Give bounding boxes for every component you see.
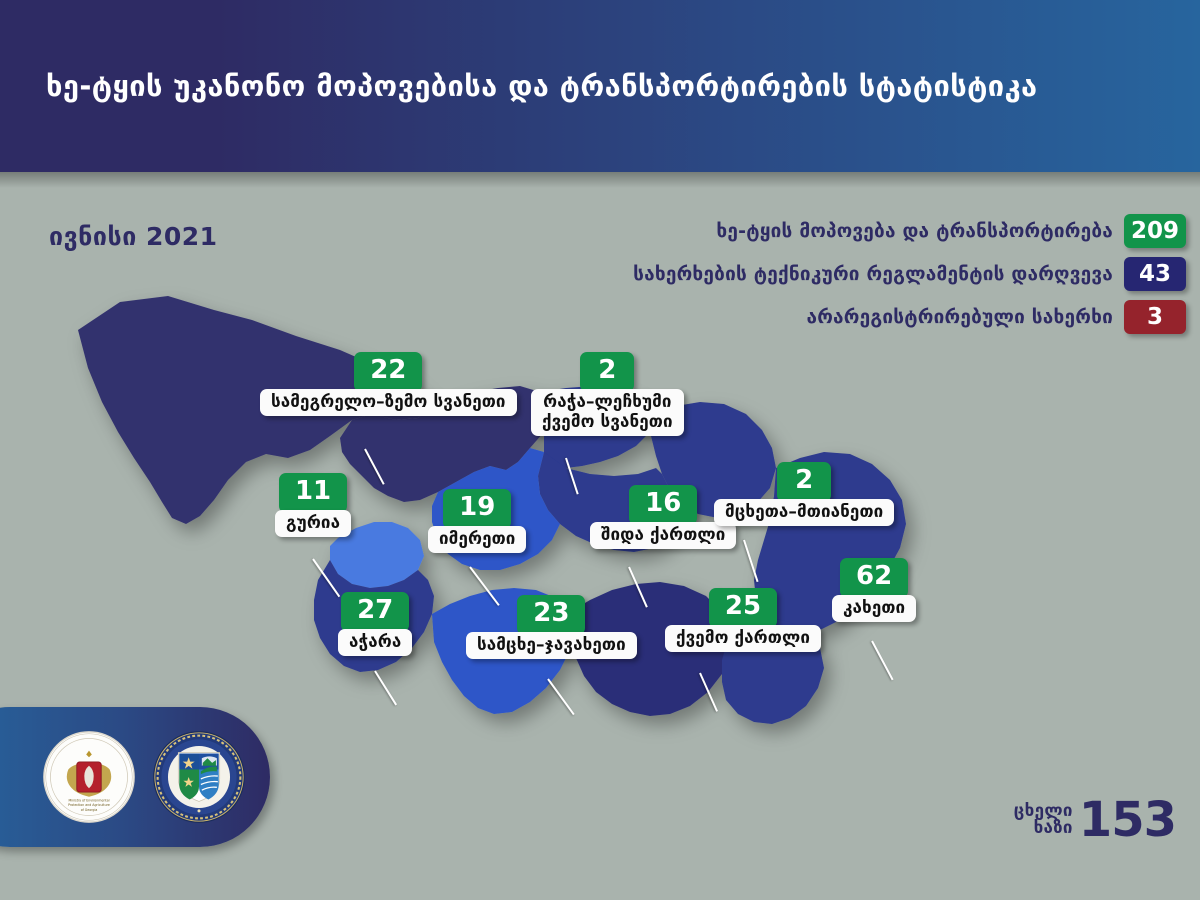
legend-value-badge: 209: [1124, 214, 1186, 248]
legend-row: ხე-ტყის მოპოვება და ტრანსპორტირება 209: [716, 214, 1186, 248]
svg-text:of Georgia: of Georgia: [81, 808, 98, 812]
legend-label: სახერხების ტექნიკური რეგლამენტის დარღვევ…: [633, 263, 1113, 285]
map-marker-label-guria: გურია: [275, 510, 351, 537]
map-marker-samegrelo[interactable]: 22სამეგრელო–ზემო სვანეთი: [260, 352, 517, 416]
svg-text:Protection and Agriculture: Protection and Agriculture: [68, 803, 110, 807]
map-marker-label-kvemokartli: ქვემო ქართლი: [665, 625, 821, 652]
map-marker-value-kvemokartli: 25: [709, 588, 777, 628]
map-marker-value-racha: 2: [580, 352, 634, 392]
ministry-of-environmental-protection-and-agriculture-emblem: Ministry of Environmental Protection and…: [42, 730, 136, 824]
legend: ხე-ტყის მოპოვება და ტრანსპორტირება 209 ს…: [633, 214, 1186, 334]
map-marker-imereti[interactable]: 19იმერეთი: [428, 489, 526, 553]
legend-value-badge: 3: [1124, 300, 1186, 334]
map-marker-label-mtskheta: მცხეთა–მთიანეთი: [714, 499, 894, 526]
page-header: ხე-ტყის უკანონო მოპოვებისა და ტრანსპორტი…: [0, 0, 1200, 172]
map-marker-adjara[interactable]: 27აჭარა: [338, 592, 412, 656]
map-marker-label-samtskhe: სამცხე–ჯავახეთი: [466, 632, 637, 659]
map-marker-label-samegrelo: სამეგრელო–ზემო სვანეთი: [260, 389, 517, 416]
legend-row: სახერხების ტექნიკური რეგლამენტის დარღვევ…: [633, 257, 1186, 291]
legend-value-badge: 43: [1124, 257, 1186, 291]
map-marker-label-kakheti: კახეთი: [832, 595, 916, 622]
hotline-number: 153: [1079, 798, 1176, 842]
map-marker-kvemokartli[interactable]: 25ქვემო ქართლი: [665, 588, 821, 652]
date-label: ივნისი 2021: [49, 222, 218, 251]
footer-logo-pill: Ministry of Environmental Protection and…: [0, 707, 270, 847]
map-marker-guria[interactable]: 11გურია: [275, 473, 351, 537]
map-marker-kakheti[interactable]: 62კახეთი: [832, 558, 916, 622]
map-marker-label-adjara: აჭარა: [338, 629, 412, 656]
map-marker-racha[interactable]: 2რაჭა–ლეჩხუმი ქვემო სვანეთი: [531, 352, 684, 436]
map-marker-value-shidakartli: 16: [629, 485, 697, 525]
map-marker-value-mtskheta: 2: [777, 462, 831, 502]
legend-row: არარეგისტრირებული სახერხი 3: [807, 300, 1187, 334]
svg-text:Ministry of Environmental: Ministry of Environmental: [69, 798, 110, 802]
page-title: ხე-ტყის უკანონო მოპოვებისა და ტრანსპორტი…: [0, 72, 1038, 101]
map-marker-value-kakheti: 62: [840, 558, 908, 598]
map-marker-value-samtskhe: 23: [517, 595, 585, 635]
map-marker-value-guria: 11: [279, 473, 347, 513]
map-marker-mtskheta[interactable]: 2მცხეთა–მთიანეთი: [714, 462, 894, 526]
legend-label: არარეგისტრირებული სახერხი: [807, 306, 1114, 328]
legend-label: ხე-ტყის მოპოვება და ტრანსპორტირება: [716, 220, 1113, 242]
environmental-supervision-department-emblem: [152, 730, 246, 824]
map-marker-label-imereti: იმერეთი: [428, 526, 526, 553]
map-marker-label-shidakartli: შიდა ქართლი: [590, 522, 736, 549]
hotline-label-line-2: ხაზი: [1014, 820, 1073, 837]
map-marker-samtskhe[interactable]: 23სამცხე–ჯავახეთი: [466, 595, 637, 659]
map-marker-label-racha: რაჭა–ლეჩხუმი ქვემო სვანეთი: [531, 389, 684, 436]
hotline-label: ცხელი ხაზი: [1014, 803, 1073, 838]
map-marker-value-samegrelo: 22: [354, 352, 422, 392]
map-marker-value-adjara: 27: [341, 592, 409, 632]
hotline: ცხელი ხაზი 153: [1014, 798, 1176, 842]
map-marker-value-imereti: 19: [443, 489, 511, 529]
